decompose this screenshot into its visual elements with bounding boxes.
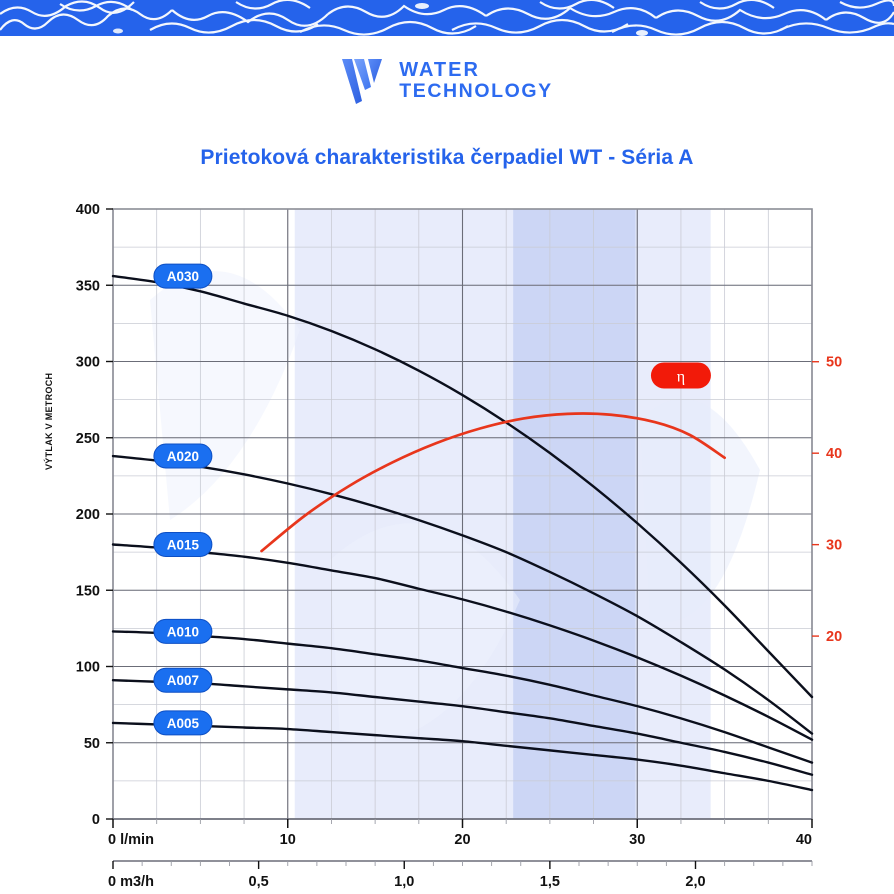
badge-label-A030: A030: [167, 269, 199, 284]
x-axis-lmin: 0 l/min10203040: [108, 819, 812, 848]
y-axis-right-tick-label: 20: [826, 629, 842, 645]
series-badge-A015[interactable]: A015: [154, 533, 212, 557]
y-axis-left: 050100150200250300350400: [76, 202, 113, 828]
series-badge-A030[interactable]: A030: [154, 264, 212, 288]
y-axis-right-tick-label: 40: [826, 446, 842, 462]
y-axis-tick-label: 300: [76, 355, 100, 371]
y-axis-tick-label: 350: [76, 278, 100, 294]
badge-label-efficiency: η: [677, 368, 685, 385]
x-axis-tick-label-lmin: 0 l/min: [108, 832, 154, 848]
y-axis-tick-label: 200: [76, 507, 100, 523]
x-axis-m3h: 0 m3/h0,51,01,52,0: [108, 861, 812, 890]
badge-label-A015: A015: [167, 538, 200, 553]
badge-label-A020: A020: [167, 449, 199, 464]
badge-label-A010: A010: [167, 624, 199, 639]
x-axis-tick-label-m3h: 1,0: [394, 874, 414, 890]
y-axis-tick-label: 50: [84, 736, 100, 752]
series-badge-A005[interactable]: A005: [154, 711, 212, 735]
x-axis-tick-label-m3h: 2,0: [685, 874, 705, 890]
efficiency-badge[interactable]: η: [651, 362, 711, 388]
x-axis-tick-label-m3h: 0 m3/h: [108, 874, 154, 890]
y-axis-right-tick-label: 30: [826, 538, 842, 554]
x-axis-tick-label-lmin: 10: [280, 832, 296, 848]
series-badge-A010[interactable]: A010: [154, 619, 212, 643]
y-axis-title: VÝTLAK V METROCH: [44, 350, 54, 470]
badge-label-A007: A007: [167, 673, 199, 688]
y-axis-tick-label: 400: [76, 202, 100, 218]
series-badge-A020[interactable]: A020: [154, 444, 212, 468]
y-axis-right-efficiency: 20304050: [812, 355, 842, 645]
badge-label-A005: A005: [167, 716, 200, 731]
pump-performance-chart: 050100150200250300350400203040500 l/min1…: [0, 0, 894, 894]
series-badge-A007[interactable]: A007: [154, 668, 212, 692]
x-axis-tick-label-lmin: 30: [629, 832, 645, 848]
y-axis-tick-label: 150: [76, 583, 100, 599]
x-axis-tick-label-lmin: 20: [454, 832, 470, 848]
x-axis-tick-label-lmin: 40: [796, 832, 812, 848]
x-axis-tick-label-m3h: 1,5: [540, 874, 560, 890]
y-axis-tick-label: 100: [76, 660, 100, 676]
chart-canvas: 050100150200250300350400203040500 l/min1…: [0, 0, 894, 894]
y-axis-right-tick-label: 50: [826, 355, 842, 371]
y-axis-tick-label: 250: [76, 431, 100, 447]
y-axis-tick-label: 0: [92, 812, 100, 828]
x-axis-tick-label-m3h: 0,5: [249, 874, 269, 890]
